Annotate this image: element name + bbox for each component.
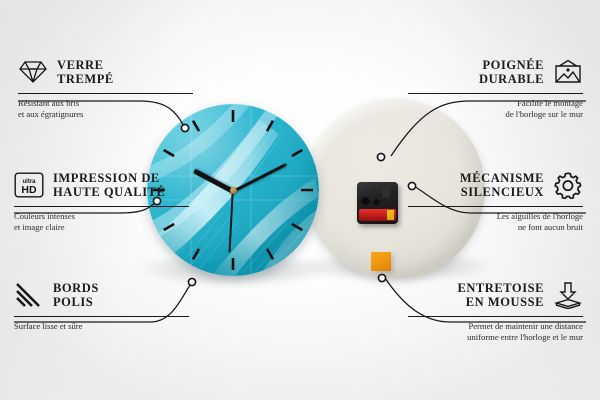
clock-center-cap	[230, 187, 237, 194]
feature-divider	[408, 93, 583, 94]
feature-description: Permet de maintenir une distance uniform…	[408, 321, 583, 342]
feature-header: ultra HD IMPRESSION DE HAUTE QUALITÉ	[14, 168, 189, 202]
feature-divider	[408, 316, 583, 317]
diamond-icon	[18, 58, 48, 86]
feature-header: ENTRETOISE EN MOUSSE	[408, 278, 583, 312]
feature-header: MÉCANISME SILENCIEUX	[408, 168, 583, 202]
feature-title: ENTRETOISE EN MOUSSE	[457, 281, 544, 309]
picture-hanger-icon	[553, 58, 583, 86]
feature-header: POIGNÉE DURABLE	[408, 55, 583, 89]
feature-title: MÉCANISME SILENCIEUX	[460, 171, 544, 199]
diagonal-lines-icon	[14, 281, 44, 309]
feature-divider	[408, 206, 583, 207]
mechanism-dial-large	[361, 196, 370, 205]
feature-description: Les aiguilles de l'horloge ne font aucun…	[408, 211, 583, 232]
feature-hd-print: ultra HD IMPRESSION DE HAUTE QUALITÉ Cou…	[14, 168, 189, 232]
arrow-down-pad-icon	[553, 281, 583, 309]
feature-description: Couleurs intenses et image claire	[14, 211, 189, 232]
mechanism-dial-small	[373, 198, 380, 205]
feature-divider	[18, 93, 193, 94]
feature-title: POIGNÉE DURABLE	[479, 58, 544, 86]
mechanism-chip	[382, 187, 390, 198]
infographic-canvas: VERRE TREMPÉ Résistant aux bris et aux é…	[0, 0, 600, 400]
svg-text:HD: HD	[21, 184, 37, 196]
clock-mechanism	[357, 182, 398, 224]
feature-divider	[14, 316, 189, 317]
feature-hanger: POIGNÉE DURABLE Facilite le montage de l…	[408, 55, 583, 119]
feature-description: Surface lisse et sûre	[14, 321, 189, 332]
feature-divider	[14, 206, 189, 207]
feature-description: Facilite le montage de l'horloge sur le …	[408, 98, 583, 119]
feature-title: VERRE TREMPÉ	[57, 58, 114, 86]
feature-description: Résistant aux bris et aux égratignures	[18, 98, 193, 119]
feature-header: VERRE TREMPÉ	[18, 55, 193, 89]
feature-tempered-glass: VERRE TREMPÉ Résistant aux bris et aux é…	[18, 55, 193, 119]
feature-title: BORDS POLIS	[53, 281, 99, 309]
feature-mechanism: MÉCANISME SILENCIEUX Les aiguilles de l'…	[408, 168, 583, 232]
ultra-hd-icon: ultra HD	[14, 171, 44, 199]
feature-title: IMPRESSION DE HAUTE QUALITÉ	[53, 171, 165, 199]
gear-icon	[553, 171, 583, 199]
feature-polished-edges: BORDS POLIS Surface lisse et sûre	[14, 278, 189, 332]
battery	[359, 209, 396, 221]
feature-header: BORDS POLIS	[14, 278, 189, 312]
foam-spacer	[371, 252, 391, 271]
feature-foam-spacer: ENTRETOISE EN MOUSSE Permet de maintenir…	[408, 278, 583, 342]
